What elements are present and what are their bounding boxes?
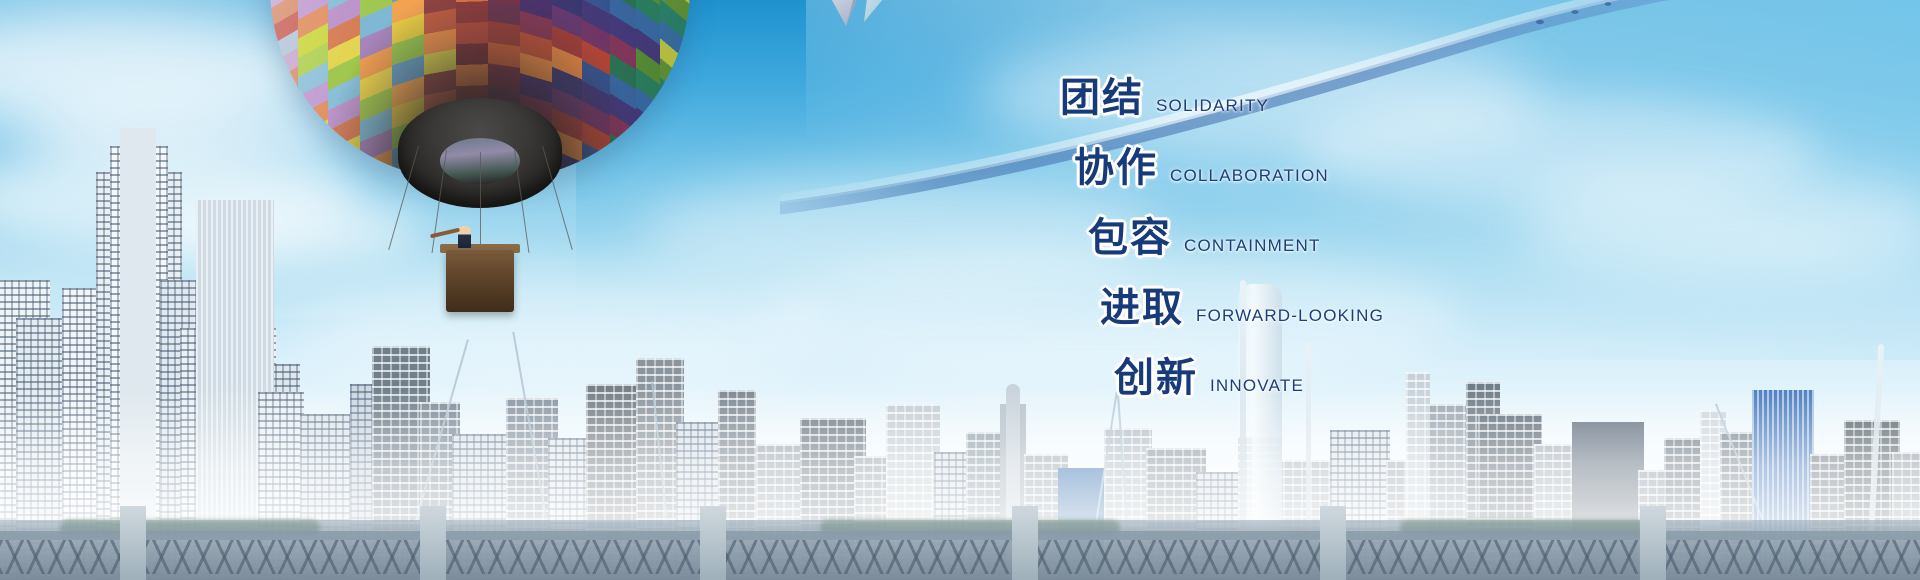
slogan-chinese: 团结 [1060,78,1144,118]
slogan-english: INNOVATE [1210,377,1304,394]
slogan-english: SOLIDARITY [1156,97,1269,114]
slogan-english: COLLABORATION [1170,167,1329,184]
slogan-item-4: 创新 INNOVATE [1114,358,1620,428]
slogan-item-2: 包容 CONTAINMENT [1088,218,1620,288]
slogan-chinese: 协作 [1074,148,1158,188]
slogan-chinese: 包容 [1088,218,1172,258]
slogan-english: CONTAINMENT [1184,237,1321,254]
slogan-item-0: 团结 SOLIDARITY [1060,78,1620,148]
slogan-item-1: 协作 COLLABORATION [1074,148,1620,218]
river-bridge [0,520,1920,580]
slogan-chinese: 创新 [1114,358,1198,398]
slogan-english: FORWARD-LOOKING [1196,307,1384,324]
banner-image: 团结 SOLIDARITY 协作 COLLABORATION 包容 CONTAI… [0,0,1920,580]
slogan-chinese: 进取 [1100,288,1184,328]
city-skyline [0,160,1920,580]
slogan-list: 团结 SOLIDARITY 协作 COLLABORATION 包容 CONTAI… [1060,78,1620,428]
paper-airplane-icon [800,0,920,58]
slogan-item-3: 进取 FORWARD-LOOKING [1100,288,1620,358]
